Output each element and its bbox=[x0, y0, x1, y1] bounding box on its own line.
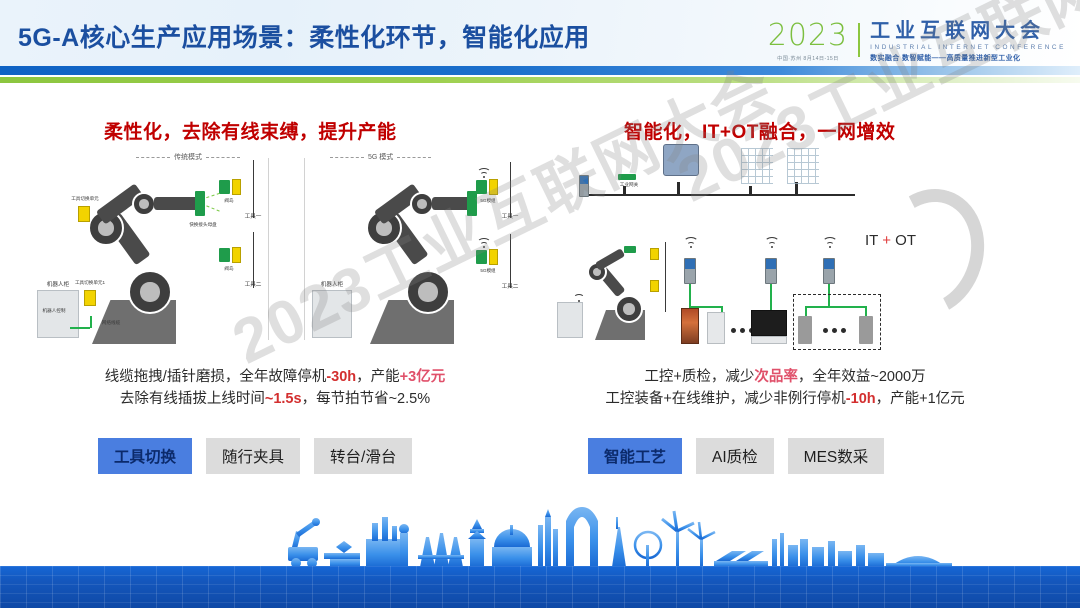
wifi-icon-cabinet bbox=[571, 290, 587, 302]
grouped-device-2 bbox=[859, 316, 873, 344]
cnc-machine-device bbox=[751, 310, 787, 336]
right-caption-l2-b: ，产能+1亿元 bbox=[876, 391, 965, 407]
tool-2-yellow bbox=[232, 247, 241, 263]
label-traditional-mode: 传统模式 bbox=[136, 152, 240, 162]
tag-smart-process[interactable]: 智能工艺 bbox=[588, 438, 682, 474]
label-valve-2: 阀岛 bbox=[216, 266, 242, 272]
header-rule-green bbox=[0, 77, 1080, 83]
label-cable-old: 网络线缆 bbox=[94, 320, 128, 326]
tool-3-yellow bbox=[489, 179, 498, 195]
page-title: 5G-A核心生产应用场景：柔性化环节，智能化应用 bbox=[18, 18, 590, 54]
tag-moving-fixture[interactable]: 随行夹具 bbox=[206, 438, 300, 474]
tool-changer-module-old bbox=[78, 206, 90, 222]
tool-2-green bbox=[219, 248, 230, 262]
tool-right-1 bbox=[650, 248, 659, 260]
left-caption-l1-b: ，产能 bbox=[356, 369, 400, 385]
wifi-icon-tool-1 bbox=[476, 166, 492, 178]
diagram-divider-1 bbox=[268, 158, 269, 340]
logo-year-block: 2023 中国·苏州 8月14日-15日 bbox=[768, 21, 848, 62]
gateway-device bbox=[579, 175, 589, 197]
slide-root: 5G-A核心生产应用场景：柔性化环节，智能化应用 2023 中国·苏州 8月14… bbox=[0, 0, 1080, 608]
wifi-icon-tool-2 bbox=[476, 236, 492, 248]
left-caption-line-1: 线缆拖拽/插针磨损，全年故障停机-30h，产能+3亿元 bbox=[40, 366, 510, 388]
diagram-divider-2 bbox=[304, 158, 305, 340]
header-bar: 5G-A核心生产应用场景：柔性化环节，智能化应用 2023 中国·苏州 8月14… bbox=[0, 0, 1080, 66]
right-caption-line-2: 工控装备+在线维护，减少非例行停机-10h，产能+1亿元 bbox=[540, 388, 1030, 410]
label-tool-1-new: 工具一 bbox=[495, 212, 525, 220]
tool-4-green bbox=[476, 250, 487, 264]
label-tool-2: 工具二 bbox=[238, 280, 268, 288]
tool-rail-right-2 bbox=[665, 276, 666, 312]
logo-location: 中国·苏州 8月14日-15日 bbox=[768, 55, 848, 62]
right-diagram: 工业网关 IT + OT bbox=[545, 150, 1025, 355]
dash-link-2 bbox=[206, 205, 219, 211]
label-robot-cabinet-new: 机器人柜 bbox=[312, 280, 352, 288]
left-caption-l1-hl1: -30h bbox=[326, 369, 356, 385]
plus-symbol: + bbox=[882, 232, 891, 249]
rack-grid-1 bbox=[741, 148, 773, 184]
tag-ai-inspection[interactable]: AI质检 bbox=[696, 438, 774, 474]
logo-name-block: 工业互联网大会 INDUSTRIAL INTERNET CONFERENCE 数… bbox=[870, 21, 1066, 63]
left-caption-l1-hl2: +3亿元 bbox=[400, 369, 446, 385]
robot-joint-wrist-new bbox=[410, 192, 434, 216]
right-panel-heading: 智能化，IT+OT融合，一网增效 bbox=[624, 117, 895, 144]
left-caption-l1-a: 线缆拖拽/插针磨损，全年故障停机 bbox=[105, 369, 327, 385]
left-caption-l2-b: ，每节拍节省~2.5% bbox=[302, 391, 431, 407]
tool-rail-4 bbox=[510, 234, 511, 288]
label-tool-changer-old: 工具切换单元 bbox=[66, 196, 104, 202]
tag-turntable-slide[interactable]: 转台/滑台 bbox=[314, 438, 412, 474]
edge-box-device bbox=[707, 312, 725, 344]
right-panel-caption: 工控+质检，减少次品率，全年效益~2000万 工控装备+在线维护，减少非例行停机… bbox=[540, 366, 1030, 411]
cable-old-1 bbox=[70, 327, 90, 329]
tool-1-yellow bbox=[232, 179, 241, 195]
tool-rail-3 bbox=[510, 162, 511, 218]
wifi-icon-node-2 bbox=[764, 236, 780, 248]
it-label: IT bbox=[865, 232, 878, 249]
robot-arm-end-new bbox=[432, 197, 470, 210]
inspection-camera-device bbox=[681, 308, 699, 344]
cable-old-2 bbox=[90, 316, 92, 328]
label-5g-module-2: 5G模组 bbox=[472, 268, 504, 274]
tool-4-yellow bbox=[489, 249, 498, 265]
robot-joint-base-old bbox=[128, 270, 172, 314]
tool-changer-module-old-2 bbox=[84, 290, 96, 306]
tool-right-2 bbox=[650, 280, 659, 292]
robot-arm-upper-right bbox=[595, 248, 625, 271]
wifi-icon-node-1 bbox=[683, 236, 699, 248]
tool-3-green bbox=[476, 180, 487, 194]
left-panel-heading: 柔性化，去除有线束缚，提升产能 bbox=[104, 117, 397, 144]
left-caption-l2-hl1: ~1.5s bbox=[265, 391, 302, 407]
label-coupling-old: 快换接头母盘 bbox=[185, 222, 221, 228]
conference-logo: 2023 中国·苏州 8月14日-15日 工业互联网大会 INDUSTRIAL … bbox=[768, 21, 1066, 63]
ellipsis-2 bbox=[823, 328, 846, 333]
label-valve-1: 阀岛 bbox=[216, 198, 242, 204]
robot-endeffector-right bbox=[624, 246, 636, 253]
node-cable-1a bbox=[689, 284, 691, 308]
left-caption-l2-a: 去除有线插拔上线时间 bbox=[120, 391, 265, 407]
logo-tagline: 数实融合 数智赋能——高质量推进新型工业化 bbox=[870, 53, 1066, 63]
right-tag-row: 智能工艺 AI质检 MES数采 bbox=[588, 438, 884, 474]
header-rule-blue bbox=[0, 66, 1080, 75]
tool-rail-1 bbox=[253, 160, 254, 218]
tag-mes-data[interactable]: MES数采 bbox=[788, 438, 885, 474]
right-caption-l2-hl1: -10h bbox=[846, 391, 876, 407]
label-robot-controller-old: 机器人控制 bbox=[42, 308, 66, 314]
right-caption-l1-a: 工控+质检，减少 bbox=[644, 369, 754, 385]
tool-1-green bbox=[219, 180, 230, 194]
right-caption-l1-hl1: 次品率 bbox=[754, 369, 798, 385]
grouped-device-1 bbox=[798, 316, 812, 344]
server-monitor bbox=[663, 144, 699, 176]
right-caption-line-1: 工控+质检，减少次品率，全年效益~2000万 bbox=[540, 366, 1030, 388]
robot-joint-base-right bbox=[615, 295, 643, 323]
robot-joint-base-new bbox=[406, 270, 450, 314]
label-5g-module-1: 5G模组 bbox=[472, 198, 504, 204]
footer-ground bbox=[0, 566, 1080, 608]
robot-endeffector-old bbox=[195, 191, 205, 216]
robot-joint-wrist-old bbox=[132, 192, 156, 216]
bus-tick-2 bbox=[677, 182, 680, 195]
top-green-module bbox=[618, 174, 636, 180]
tool-rail-right-1 bbox=[665, 242, 666, 278]
node-device-1 bbox=[684, 258, 696, 284]
robot-arm-end-old bbox=[154, 197, 198, 210]
left-panel-caption: 线缆拖拽/插针磨损，全年故障停机-30h，产能+3亿元 去除有线插拔上线时间~1… bbox=[40, 366, 510, 411]
it-ot-label: IT + OT bbox=[865, 232, 916, 249]
rack-grid-2 bbox=[787, 148, 819, 184]
label-gateway: 工业网关 bbox=[611, 182, 647, 188]
skyline-graphic bbox=[0, 498, 1080, 570]
label-tool-2-new: 工具二 bbox=[495, 282, 525, 290]
cnc-machine-base bbox=[751, 336, 787, 344]
node-cable-2 bbox=[770, 284, 772, 312]
node-device-3 bbox=[823, 258, 835, 284]
tag-tool-switch[interactable]: 工具切换 bbox=[98, 438, 192, 474]
robot-cabinet-new bbox=[312, 290, 352, 338]
logo-year: 2023 bbox=[768, 21, 848, 51]
footer-skyline bbox=[0, 498, 1080, 608]
label-5g-mode: 5G 模式 bbox=[330, 152, 431, 162]
node-device-2 bbox=[765, 258, 777, 284]
node-cable-3b bbox=[805, 306, 867, 308]
label-tool-1: 工具一 bbox=[238, 212, 268, 220]
logo-english-name: INDUSTRIAL INTERNET CONFERENCE bbox=[870, 44, 1066, 51]
wifi-icon-node-3 bbox=[822, 236, 838, 248]
left-tag-row: 工具切换 随行夹具 转台/滑台 bbox=[98, 438, 412, 474]
left-caption-line-2: 去除有线插拔上线时间~1.5s，每节拍节省~2.5% bbox=[40, 388, 510, 410]
right-caption-l2-a: 工控装备+在线维护，减少非例行停机 bbox=[605, 391, 845, 407]
logo-divider bbox=[858, 23, 860, 57]
right-caption-l1-b: ，全年效益~2000万 bbox=[798, 369, 926, 385]
ot-label: OT bbox=[895, 232, 916, 249]
robot-cabinet-old bbox=[37, 290, 79, 338]
logo-chinese-name: 工业互联网大会 bbox=[870, 21, 1066, 42]
robot-cabinet-right bbox=[557, 302, 583, 338]
bus-tick-3 bbox=[749, 186, 752, 195]
label-robot-cabinet-old: 机器人柜 bbox=[37, 280, 79, 288]
left-diagram: 传统模式 5G 模式 工具切换单元 快换接头母盘 工具切换单元1 机器人柜 机器… bbox=[40, 150, 510, 355]
